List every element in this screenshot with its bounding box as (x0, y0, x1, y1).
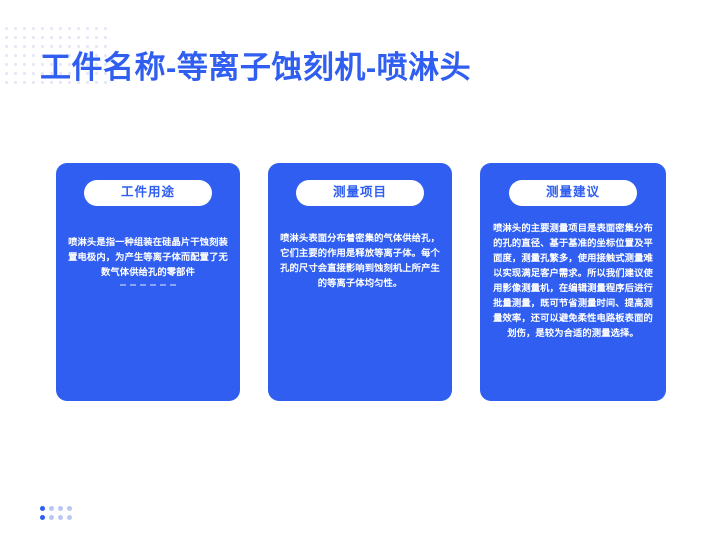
info-card-measurement-advice: 测量建议 喷淋头的主要测量项目是表面密集分布的孔的直径、基于基准的坐标位置及平面… (480, 163, 666, 401)
info-card-purpose: 工件用途 喷淋头是指一种组装在硅晶片干蚀刻装置电极内，为产生等离子体而配置了无数… (56, 163, 240, 401)
dot (58, 506, 63, 511)
page-title: 工件名称-等离子蚀刻机-喷淋头 (40, 49, 471, 86)
dot-cluster-decoration (40, 506, 76, 524)
dashed-rule-decoration (120, 284, 176, 286)
info-card-measurement-items: 测量项目 喷淋头表面分布着密集的气体供给孔，它们主要的作用是释放等离子体。每个孔… (268, 163, 452, 401)
info-card-row: 工件用途 喷淋头是指一种组装在硅晶片干蚀刻装置电极内，为产生等离子体而配置了无数… (56, 163, 666, 401)
dot (49, 515, 54, 520)
dot (49, 506, 54, 511)
dot (40, 515, 45, 520)
card-badge-measurement-items: 测量项目 (296, 180, 424, 206)
card-body-measurement-items: 喷淋头表面分布着密集的气体供给孔，它们主要的作用是释放等离子体。每个孔的尺寸会直… (280, 231, 440, 291)
dot (40, 506, 45, 511)
dot (67, 506, 72, 511)
card-badge-purpose: 工件用途 (84, 180, 212, 206)
card-body-purpose: 喷淋头是指一种组装在硅晶片干蚀刻装置电极内，为产生等离子体而配置了无数气体供给孔… (68, 235, 228, 280)
card-body-measurement-advice: 喷淋头的主要测量项目是表面密集分布的孔的直径、基于基准的坐标位置及平面度，测量孔… (491, 221, 655, 341)
dot (67, 515, 72, 520)
dot (58, 515, 63, 520)
card-badge-measurement-advice: 测量建议 (509, 180, 637, 206)
